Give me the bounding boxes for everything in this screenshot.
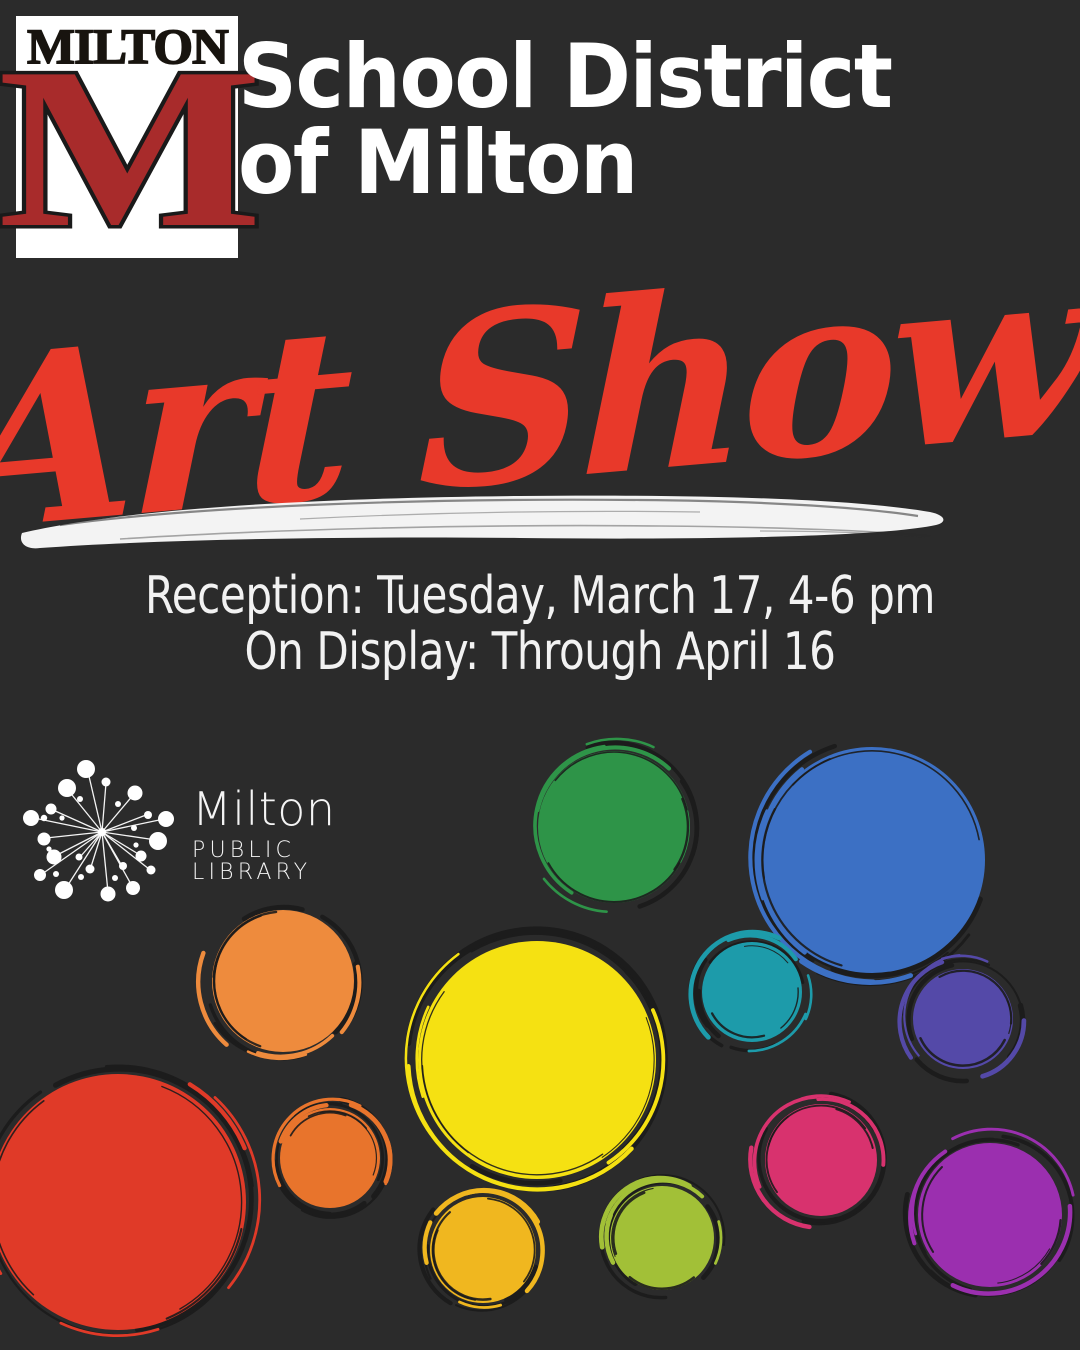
yellow-large-circle — [406, 929, 665, 1189]
red-circle — [0, 1066, 260, 1335]
event-details: Reception: Tuesday, March 17, 4-6 pm On … — [54, 568, 1026, 680]
display-line: On Display: Through April 16 — [54, 624, 1026, 680]
green-circle — [535, 739, 697, 912]
magenta-circle — [750, 1094, 884, 1227]
district-logo-letter: M — [0, 65, 256, 231]
page-title-line2: of Milton — [238, 120, 1010, 206]
lime-circle — [601, 1175, 725, 1297]
orange-light-circle — [198, 907, 360, 1059]
orange-deep-circle — [273, 1099, 391, 1218]
reception-line: Reception: Tuesday, March 17, 4-6 pm — [54, 568, 1026, 624]
purple-circle — [905, 1129, 1073, 1295]
milton-m-logo-icon: MILTON M — [16, 16, 238, 258]
page-title: School District of Milton — [238, 34, 1010, 206]
decorative-circles — [0, 690, 1080, 1350]
poster-header: MILTON M School District of Milton — [0, 0, 1080, 265]
gold-circle — [419, 1190, 542, 1310]
art-show-hero: Art Show — [0, 248, 1080, 558]
poster: MILTON M School District of Milton Art S… — [0, 0, 1080, 1350]
